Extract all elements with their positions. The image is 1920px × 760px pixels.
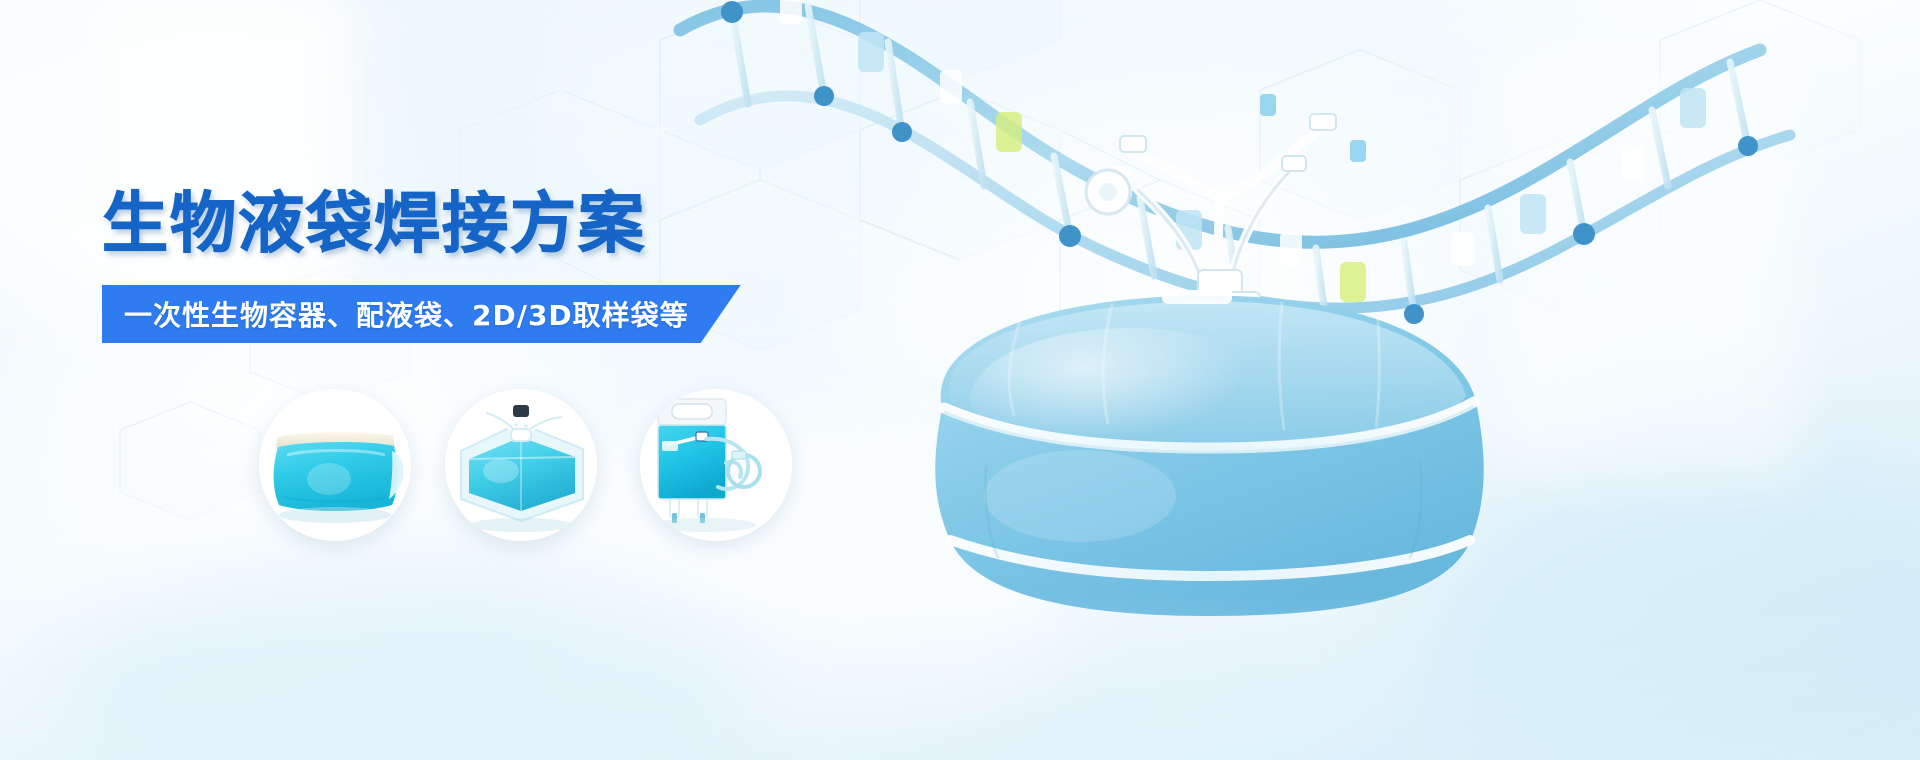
- page-title: 生物液袋焊接方案: [102, 182, 646, 266]
- large-bioprocess-bag-image: [880, 290, 1540, 620]
- subtitle-ribbon: 一次性生物容器、配液袋、2D/3D取样袋等: [102, 285, 741, 343]
- product-circle-2: [445, 389, 597, 541]
- product-circle-1: [259, 389, 411, 541]
- subtitle-text: 一次性生物容器、配液袋、2D/3D取样袋等: [124, 294, 689, 334]
- hero-banner: 生物液袋焊接方案 一次性生物容器、配液袋、2D/3D取样袋等: [0, 0, 1920, 760]
- product-circle-3: [640, 389, 792, 541]
